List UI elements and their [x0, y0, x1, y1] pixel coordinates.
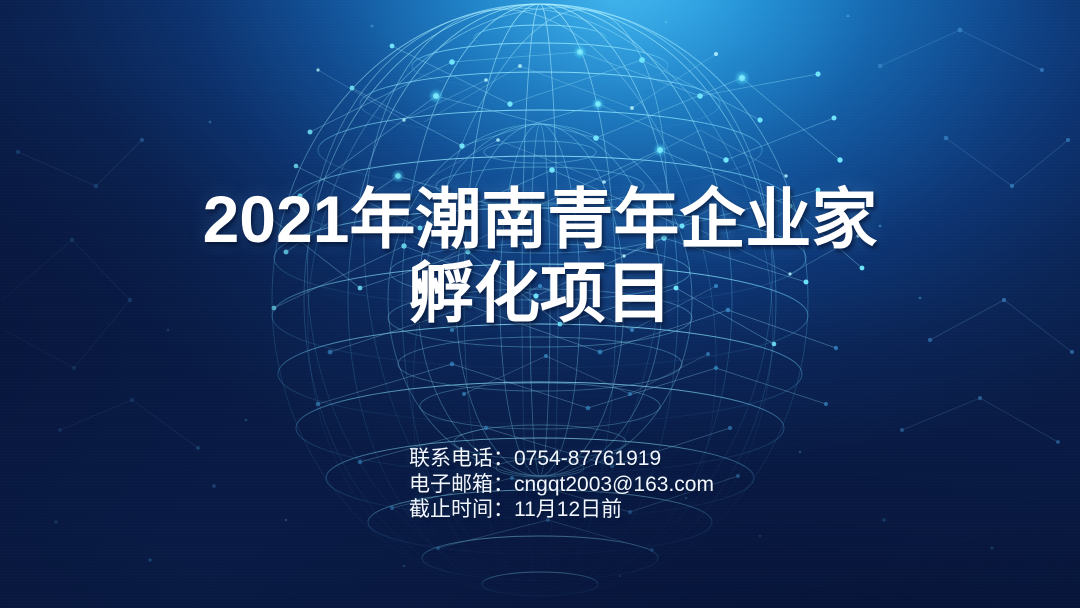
title-line-2: 孵化项目 [0, 256, 1080, 330]
contact-deadline-line: 截止时间：11月12日前 [409, 497, 714, 523]
contact-phone-line: 联系电话：0754-87761919 [409, 446, 714, 472]
slide-content: 2021年潮南青年企业家 孵化项目 联系电话：0754-87761919 电子邮… [0, 0, 1080, 608]
contact-info-block: 联系电话：0754-87761919 电子邮箱：cngqt2003@163.co… [409, 446, 714, 523]
slide-title: 2021年潮南青年企业家 孵化项目 [0, 182, 1080, 330]
title-line-1: 2021年潮南青年企业家 [0, 182, 1080, 256]
contact-email-line: 电子邮箱：cngqt2003@163.com [409, 472, 714, 498]
presentation-slide: 2021年潮南青年企业家 孵化项目 联系电话：0754-87761919 电子邮… [0, 0, 1080, 608]
